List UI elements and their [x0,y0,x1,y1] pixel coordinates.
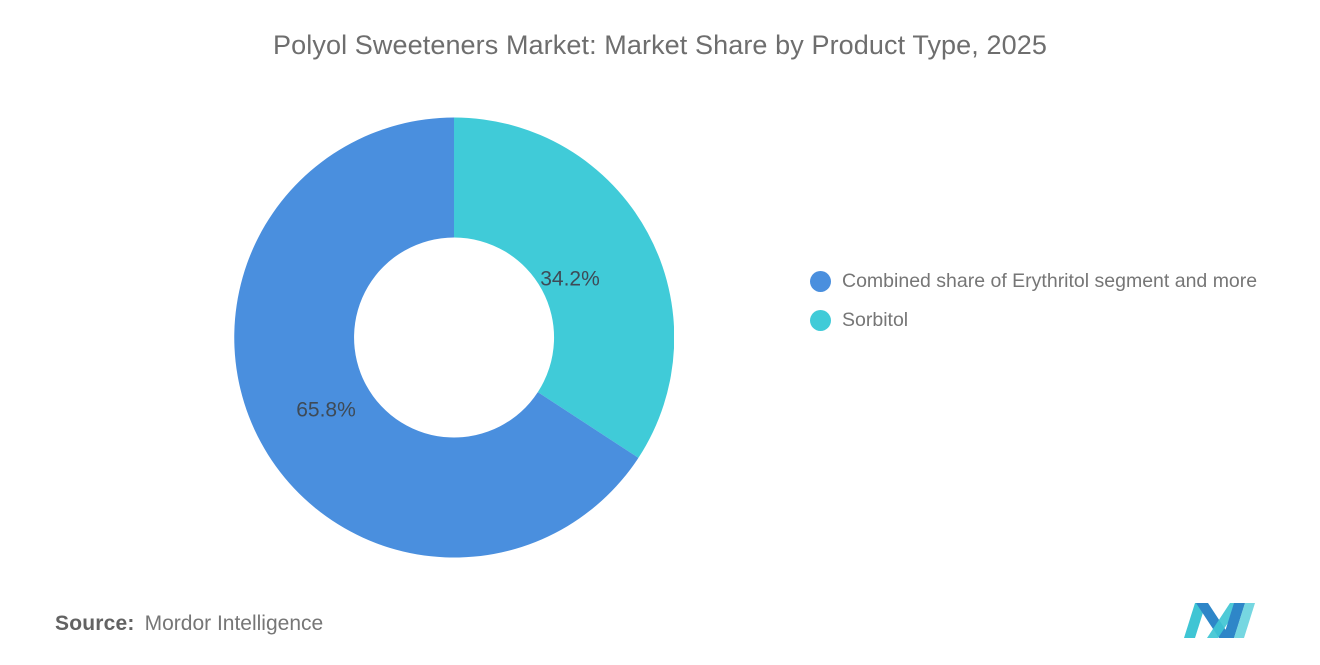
chart-page: Polyol Sweeteners Market: Market Share b… [0,0,1320,665]
legend-item-sorbitol[interactable]: Sorbitol [810,307,1290,334]
source-label: Source: [55,612,135,636]
legend-item-label: Sorbitol [842,307,908,334]
donut-label-erythritol-combined: 65.8% [296,399,356,422]
chart-legend: Combined share of Erythritol segment and… [810,268,1290,346]
mordor-intelligence-logo-icon [1184,598,1256,640]
legend-swatch-teal-circle-icon [810,310,831,331]
donut-chart: 34.2% 65.8% [234,117,674,558]
legend-item-label: Combined share of Erythritol segment and… [842,268,1257,295]
chart-title: Polyol Sweeteners Market: Market Share b… [0,30,1320,61]
donut-label-sorbitol: 34.2% [540,268,600,291]
source-value: Mordor Intelligence [145,612,324,636]
logo-svg [1184,598,1256,640]
donut-chart-svg: 34.2% 65.8% [234,117,674,558]
legend-item-erythritol-combined[interactable]: Combined share of Erythritol segment and… [810,268,1290,295]
source-line: Source: Mordor Intelligence [55,612,323,636]
legend-swatch-blue-circle-icon [810,271,831,292]
